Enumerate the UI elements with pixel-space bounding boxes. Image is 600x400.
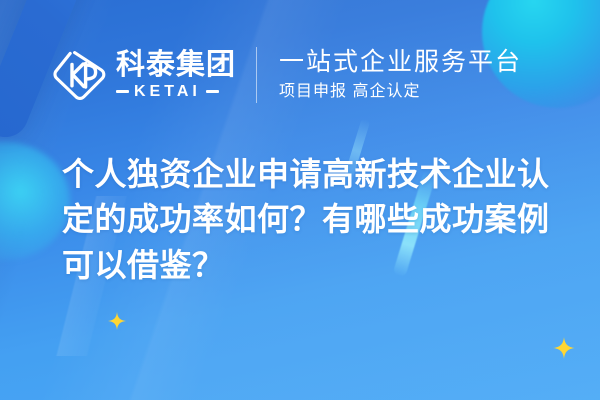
- logo-rule-left: [116, 90, 129, 93]
- banner-title-block: 个人独资企业申请高新技术企业认定的成功率如何？有哪些成功案例可以借鉴？: [62, 152, 558, 288]
- tagline-primary: 一站式企业服务平台: [279, 48, 522, 77]
- tagline-secondary: 项目申报 高企认定: [279, 82, 522, 101]
- header-divider: [256, 47, 257, 103]
- logo-company-name-en: KETAI: [134, 84, 201, 100]
- logo-company-name-cn: 科泰集团: [116, 50, 236, 80]
- promo-banner: 科泰集团 KETAI 一站式企业服务平台 项目申报 高企认定 个人独资企业申请高…: [0, 0, 600, 400]
- sparkle-star-icon-left: [108, 312, 126, 330]
- page-title: 个人独资企业申请高新技术企业认定的成功率如何？有哪些成功案例可以借鉴？: [62, 152, 558, 288]
- logo-rule-right: [206, 90, 219, 93]
- logo-english-row: KETAI: [116, 84, 236, 100]
- banner-header: 科泰集团 KETAI 一站式企业服务平台 项目申报 高企认定: [0, 36, 600, 114]
- ketai-kp-monogram-logo: [52, 48, 106, 102]
- sparkle-star-icon-right: [553, 337, 575, 359]
- cyan-glow-orb-left: [0, 142, 70, 260]
- header-tagline: 一站式企业服务平台 项目申报 高企认定: [279, 48, 522, 101]
- logo-wordmark: 科泰集团 KETAI: [116, 50, 236, 99]
